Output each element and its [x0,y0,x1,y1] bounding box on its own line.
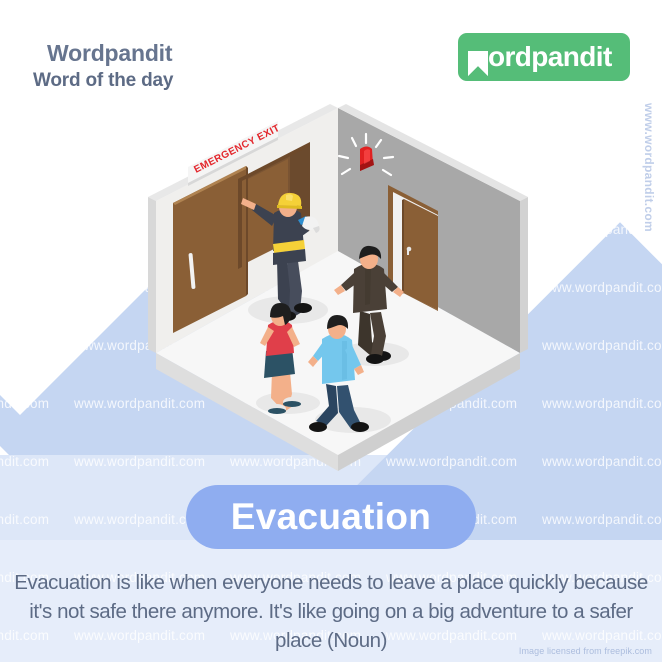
wordpandit-logo[interactable]: ordpandit [458,33,630,81]
page-title: Wordpandit [47,40,172,67]
watermark-vertical: www.wordpandit.com [642,103,656,232]
bookmark-w-icon [466,37,490,77]
word-text: Evacuation [231,496,431,538]
logo-text: ordpandit [488,43,612,71]
word-badge: Evacuation [186,485,476,549]
word-of-the-day-card: www.wordpandit.comwww.wordpandit.comwww.… [0,0,662,662]
page-subtitle: Word of the day [33,70,173,92]
definition-text: Evacuation is like when everyone needs t… [14,568,648,655]
image-credit: Image licensed from freepik.com [519,646,652,656]
illustration-evacuation-room: EMERGENCY EXIT [138,103,538,493]
